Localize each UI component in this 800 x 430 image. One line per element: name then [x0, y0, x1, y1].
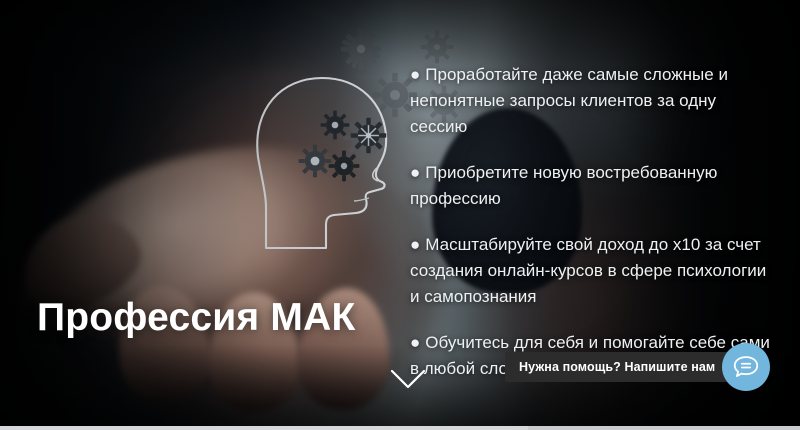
benefit-text: Приобретите новую востребованную професс…	[410, 163, 717, 208]
hero-banner: Профессия МАК ●Проработайте даже самые с…	[0, 0, 800, 430]
benefit-item: ●Масштабируйте свой доход до х10 за счет…	[410, 232, 770, 310]
benefit-item: ●Проработайте даже самые сложные и непон…	[410, 62, 770, 140]
page-bottom-strip	[0, 426, 800, 430]
bullet-icon: ●	[410, 65, 420, 84]
benefit-text: Проработайте даже самые сложные и непоня…	[410, 65, 728, 136]
chat-open-button[interactable]	[722, 343, 770, 391]
benefit-item: ●Приобретите новую востребованную профес…	[410, 160, 770, 212]
bullet-icon: ●	[410, 235, 420, 254]
bullet-icon: ●	[410, 163, 420, 182]
chevron-down-icon[interactable]	[390, 368, 426, 390]
benefits-list: ●Проработайте даже самые сложные и непон…	[410, 62, 770, 382]
chat-bubble-icon	[731, 351, 761, 384]
benefit-text: Масштабируйте свой доход до х10 за счет …	[410, 235, 766, 306]
chat-prompt-bubble[interactable]: Нужна помощь? Напишите нам	[505, 352, 737, 382]
page-title: Профессия МАК	[37, 296, 355, 340]
bullet-icon: ●	[410, 333, 420, 352]
